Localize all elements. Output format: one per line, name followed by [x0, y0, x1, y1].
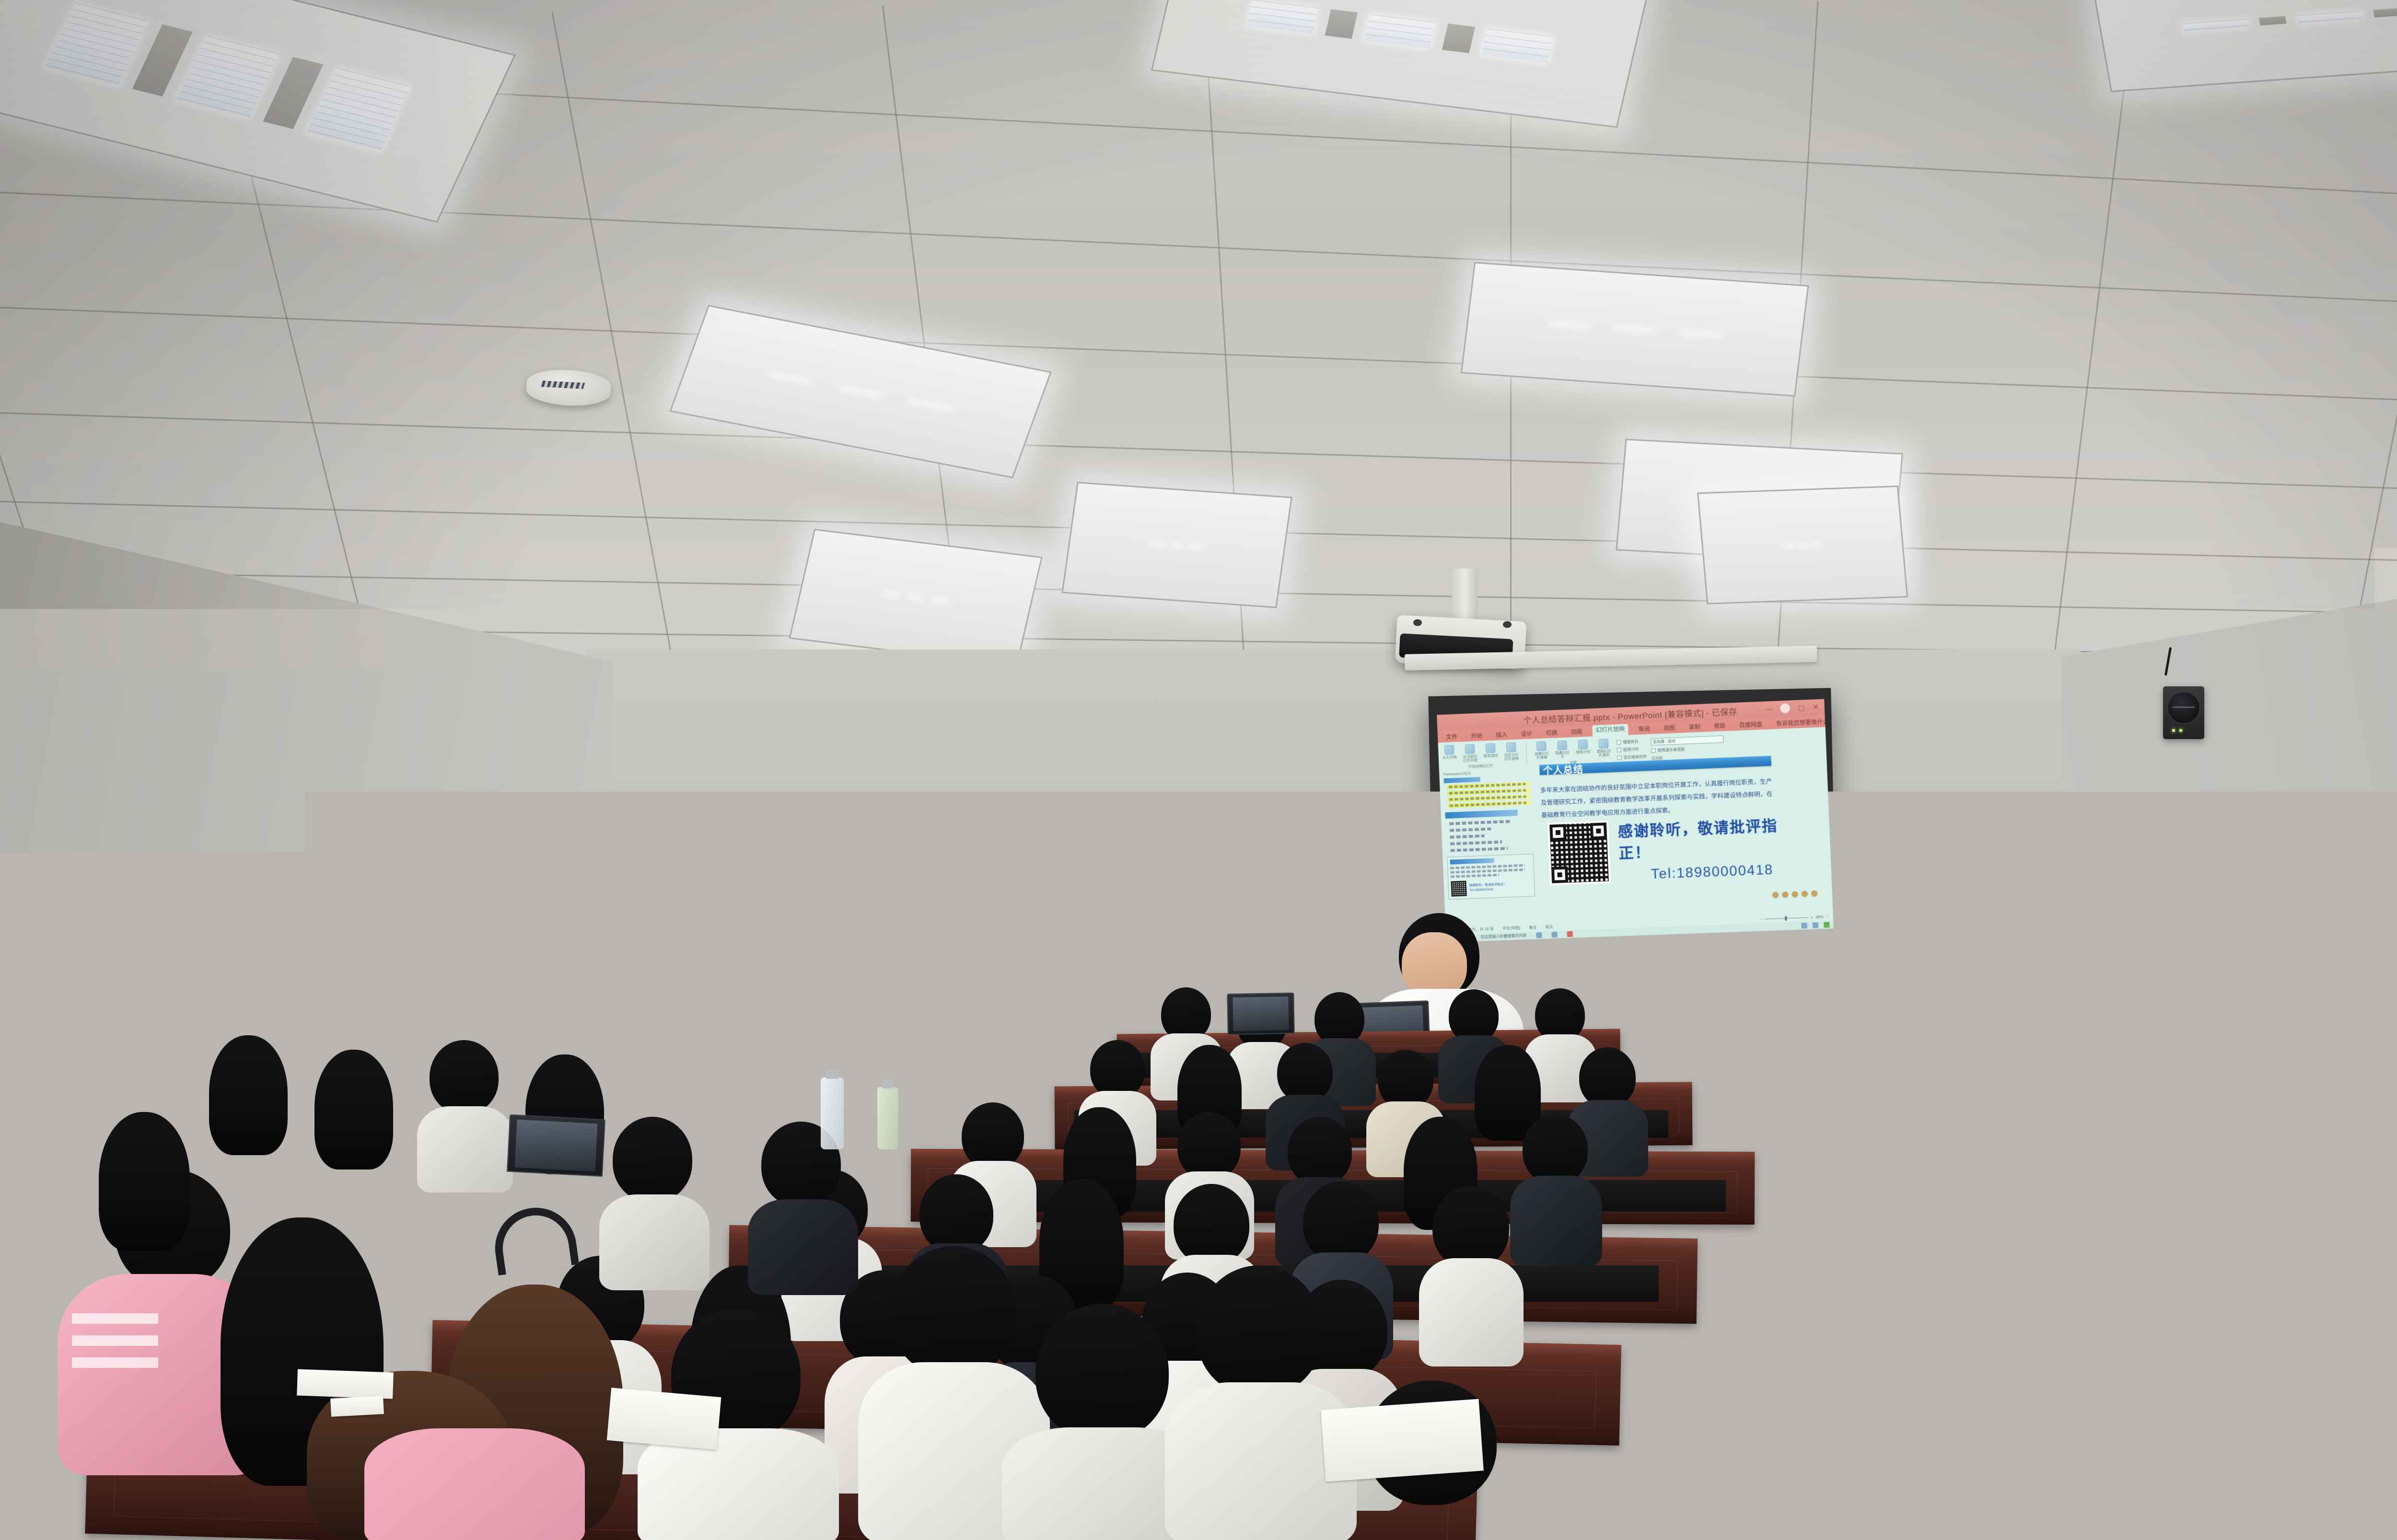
checkbox-play-narration[interactable]: 播放旁白 — [1617, 738, 1646, 745]
paper-document[interactable] — [297, 1369, 394, 1399]
outline-bullet — [1450, 840, 1502, 845]
glasses-icon — [0, 1095, 46, 1096]
powerpoint-window: 个人总结答辩汇报.pptx - PowerPoint [兼容模式] - 已保存 … — [1437, 699, 1834, 942]
outline-bullet — [1449, 820, 1512, 825]
thumbnail-thanks-row: 感谢聆听，敬请批评指正！ Tel:18980000418 — [1451, 878, 1532, 896]
system-tray[interactable] — [1801, 922, 1829, 928]
projector-foot — [1503, 621, 1512, 628]
audience-member — [91, 1112, 201, 1265]
laptop[interactable] — [1227, 993, 1294, 1035]
slide-thumbnail[interactable]: 感谢聆听，敬请批评指正！ Tel:18980000418 — [1447, 853, 1535, 899]
play-current-icon[interactable]: 从当前幻灯片开始 — [1462, 744, 1479, 763]
explorer-icon[interactable] — [1551, 931, 1558, 937]
tab-transitions[interactable]: 切换 — [1542, 728, 1561, 739]
tab-record[interactable]: 录制 — [1685, 721, 1704, 732]
glasses-icon — [890, 907, 950, 908]
monitor-select[interactable]: 监视器 : 自动 — [1651, 735, 1723, 745]
outline-bullet — [1450, 834, 1484, 838]
network-icon[interactable] — [1801, 922, 1807, 928]
checkbox-use-timings[interactable]: 使用计时 — [1617, 746, 1646, 753]
audience-member — [1165, 1265, 1357, 1540]
podium-monitor — [1663, 1002, 1740, 1039]
zoom-slider-knob[interactable] — [1785, 916, 1787, 920]
outline-highlight-line — [1447, 787, 1531, 795]
account-avatar-icon[interactable] — [1780, 703, 1790, 713]
paper-document[interactable] — [607, 1388, 721, 1450]
ribbon-group-label: 开始放映幻灯片 — [1468, 763, 1493, 769]
tab-help[interactable]: 帮助 — [1710, 720, 1729, 731]
projector-foot — [1413, 619, 1422, 626]
stage-chair[interactable] — [1879, 1006, 1974, 1051]
projected-slide: 个人总结答辩汇报.pptx - PowerPoint [兼容模式] - 已保存 … — [1437, 699, 1834, 942]
fit-to-window-icon[interactable]: ⛶ — [1826, 914, 1828, 919]
close-icon[interactable]: ✕ — [1812, 703, 1819, 712]
outline-bullet — [1450, 846, 1507, 852]
water-bottle[interactable] — [877, 1087, 898, 1149]
thumbnail-thanks-text: 感谢聆听，敬请批评指正！ Tel:18980000418 — [1469, 882, 1507, 892]
ribbon-checkbox-group[interactable]: 播放旁白 使用计时 显示媒体控件 — [1617, 737, 1647, 760]
ceiling — [0, 0, 2397, 709]
highlighted-outline-block — [1443, 775, 1531, 808]
slide-canvas[interactable]: 个人总结 多年来大家在团结协作的良好氛围中立足本职岗位开展工作，认真履行岗位职责… — [1539, 753, 1825, 920]
thumbnail-text-line — [1450, 873, 1499, 878]
task-view-icon[interactable] — [1536, 932, 1542, 938]
torso — [364, 1428, 585, 1540]
checkbox-show-media-controls[interactable]: 显示媒体控件 — [1617, 754, 1647, 760]
outline-bullet — [1449, 827, 1491, 832]
reaction-emoji-row[interactable] — [1772, 890, 1817, 898]
tab-baidu-netdisk[interactable]: 百度网盘 — [1735, 719, 1766, 730]
outline-highlight-line — [1447, 800, 1531, 808]
ceiling-light-fixture — [1697, 486, 1908, 605]
minimize-icon[interactable]: — — [1765, 705, 1773, 713]
shirt-print — [72, 1313, 158, 1371]
wall-speaker — [2163, 686, 2204, 739]
slide-title: 个人总结 — [1543, 761, 1584, 776]
volume-icon[interactable] — [1813, 922, 1819, 928]
audience-member — [2009, 1112, 2114, 1265]
record-show-icon[interactable]: 录制幻灯片演示 — [1595, 738, 1612, 757]
slide-outline-pane[interactable]: Powerpoint 幻灯片 — [1443, 768, 1536, 927]
water-bottle[interactable] — [2368, 1227, 2397, 1366]
audience-member — [1999, 997, 2090, 1126]
zoom-level: 68% — [1815, 915, 1824, 919]
wechat-icon[interactable] — [1824, 922, 1830, 928]
tab-animations[interactable]: 动画 — [1567, 726, 1586, 737]
water-bottle[interactable] — [821, 1077, 844, 1149]
monitor-settings-group[interactable]: 监视器 : 自动 使用演示者视图 监视器 — [1651, 734, 1724, 761]
tab-slideshow[interactable]: 幻灯片放映 — [1592, 724, 1628, 736]
notes-button[interactable]: 备注 — [1529, 925, 1537, 930]
outline-section-bar — [1443, 776, 1480, 783]
zoom-control[interactable]: − + 68% ⛶ — [1760, 914, 1828, 921]
ceiling-light-fixture — [1061, 482, 1292, 608]
ribbon-group-start-show: 从头开始 从当前幻灯片开始 联机演示 自定义幻灯片放映 — [1441, 742, 1520, 770]
slide-thanks-block: 感谢聆听，敬请批评指正！ Tel:18980000418 — [1547, 812, 1805, 886]
rehearse-timings-icon[interactable]: 排练计时 — [1574, 739, 1591, 754]
comments-button[interactable]: 批注 — [1545, 924, 1553, 930]
tab-view[interactable]: 视图 — [1660, 723, 1678, 734]
checkbox-presenter-view[interactable]: 使用演示者视图 — [1651, 745, 1724, 753]
laptop[interactable] — [507, 1114, 605, 1177]
setup-show-icon[interactable]: 设置幻灯片放映 — [1533, 741, 1550, 760]
lecture-hall-photo: 个人总结答辩汇报.pptx - PowerPoint [兼容模式] - 已保存 … — [0, 0, 2397, 1540]
audience-member — [1510, 1114, 1602, 1240]
qr-code-icon — [1547, 820, 1611, 886]
whiteboard-note: ①Hello — [2101, 880, 2149, 900]
tab-home[interactable]: 开始 — [1467, 730, 1486, 741]
chrome-icon[interactable] — [1567, 931, 1573, 937]
tab-file[interactable]: 文件 — [1442, 731, 1461, 742]
whiteboard-note: 上机时刻 — [2080, 953, 2146, 978]
stage-chair[interactable] — [1774, 1005, 1870, 1050]
face — [762, 923, 792, 969]
present-online-icon[interactable]: 联机演示 — [1482, 743, 1499, 758]
audience-member — [307, 1050, 403, 1184]
paper-document[interactable] — [1321, 1399, 1484, 1482]
thumbnail-text-line — [1450, 868, 1524, 873]
ceiling-light-fixture — [1461, 262, 1809, 397]
butterfly-sketch-icon — [2228, 908, 2287, 971]
audience-member — [2263, 1169, 2383, 1352]
outline-highlight-line — [1447, 794, 1531, 801]
speaker-cone-icon — [2167, 692, 2199, 724]
zoom-out-icon[interactable]: − — [1760, 917, 1762, 921]
contact-phone: Tel:18980000418 — [1619, 860, 1805, 883]
window-controls[interactable]: — ▢ ✕ — [1765, 702, 1819, 714]
qr-code-icon — [1451, 880, 1466, 896]
head — [1036, 1304, 1169, 1441]
tab-design[interactable]: 设计 — [1517, 729, 1536, 740]
speaker-status-leds — [2172, 729, 2182, 732]
audience-member — [1419, 1186, 1524, 1336]
head — [1197, 1265, 1322, 1396]
tab-review[interactable]: 审阅 — [1635, 724, 1653, 735]
tab-insert[interactable]: 插入 — [1492, 729, 1511, 741]
audience-member — [2205, 1352, 2363, 1540]
zoom-in-icon[interactable]: + — [1811, 915, 1813, 919]
thumbnail-banner — [1450, 857, 1494, 864]
restore-icon[interactable]: ▢ — [1798, 703, 1805, 712]
thanks-message: 感谢聆听，敬请批评指正！ — [1617, 812, 1804, 862]
audience-member — [599, 1117, 710, 1280]
audience-member-pink-tee — [364, 1390, 585, 1540]
paper-document[interactable] — [330, 1396, 384, 1417]
outline-highlight-line — [1447, 781, 1531, 789]
audience-member — [417, 1040, 513, 1174]
audience-member — [2339, 1028, 2397, 1181]
hide-slide-icon[interactable]: 隐藏幻灯片 — [1554, 740, 1571, 759]
play-from-start-icon[interactable]: 从头开始 — [1441, 744, 1458, 759]
audience-member — [2033, 1294, 2176, 1505]
shirt-logo: NB — [762, 1089, 808, 1103]
thumbnail-text-line — [1450, 864, 1524, 869]
ribbon-divider — [1526, 743, 1527, 764]
audience-member — [201, 1035, 297, 1169]
outline-section-header — [1445, 809, 1518, 818]
head — [891, 1246, 1016, 1377]
custom-show-icon[interactable]: 自定义幻灯片放映 — [1503, 742, 1520, 761]
